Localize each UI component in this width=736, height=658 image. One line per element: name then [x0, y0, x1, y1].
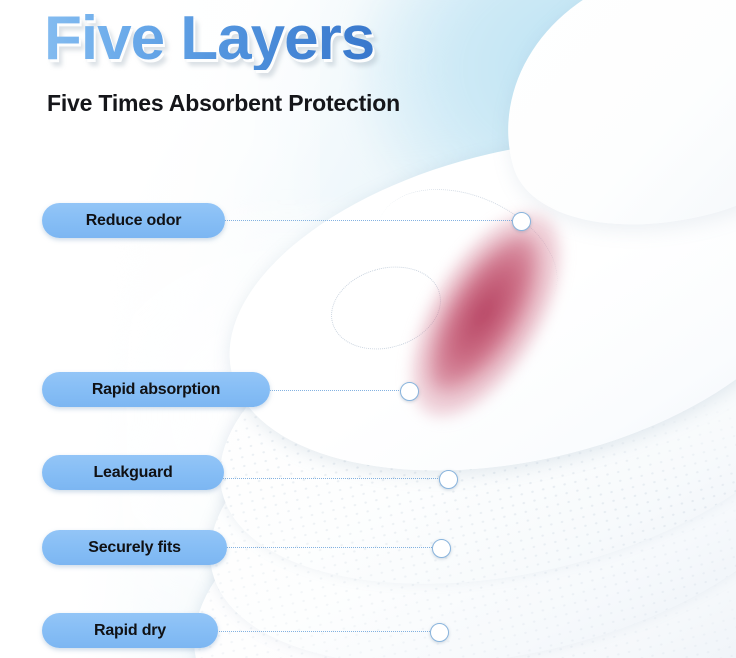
- connector-endpoint-4: [432, 539, 451, 558]
- infographic-canvas: Five Layers Five Times Absorbent Protect…: [0, 0, 736, 658]
- feature-pill-5[interactable]: Rapid dry: [42, 613, 218, 648]
- page-title: Five Layers: [44, 8, 374, 70]
- connector-endpoint-1: [512, 212, 531, 231]
- feature-pill-3[interactable]: Leakguard: [42, 455, 224, 490]
- connector-line-1: [186, 220, 520, 221]
- feature-pill-4[interactable]: Securely fits: [42, 530, 227, 565]
- connector-line-5: [179, 631, 440, 632]
- connector-line-3: [185, 478, 448, 479]
- feature-pill-2[interactable]: Rapid absorption: [42, 372, 270, 407]
- page-subtitle: Five Times Absorbent Protection: [47, 90, 400, 117]
- connector-endpoint-5: [430, 623, 449, 642]
- connector-endpoint-3: [439, 470, 458, 489]
- connector-endpoint-2: [400, 382, 419, 401]
- feature-pill-1[interactable]: Reduce odor: [42, 203, 225, 238]
